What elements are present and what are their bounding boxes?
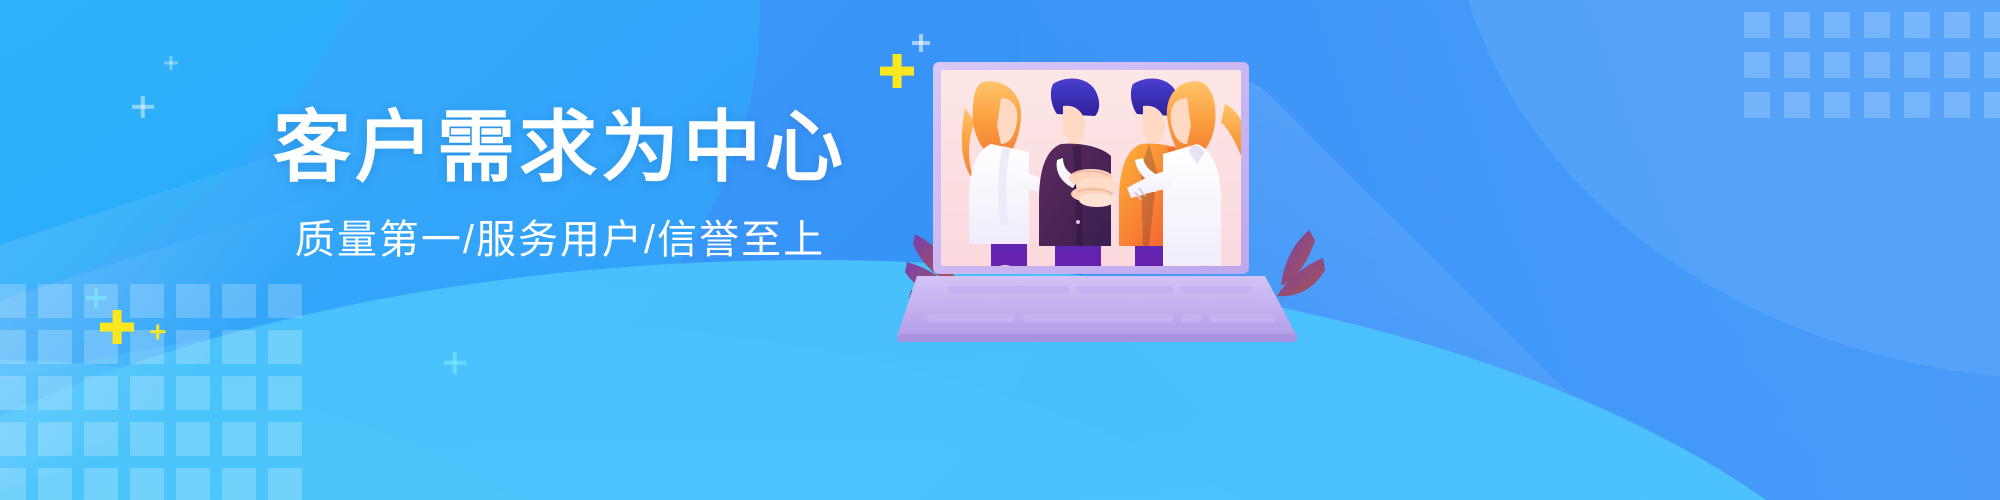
laptop-keyboard xyxy=(927,286,1275,322)
banner-headline: 客户需求为中心 xyxy=(250,108,870,186)
laptop-team-illustration xyxy=(905,48,1325,348)
promo-banner: 客户需求为中心 质量第一/服务用户/信誉至上 xyxy=(0,0,2000,500)
plus-yellow-small-bottom-icon xyxy=(150,324,165,339)
plus-white-tiny-upper-left-icon xyxy=(164,56,178,70)
laptop-front-edge xyxy=(897,334,1297,342)
background-wave-bottom-c xyxy=(0,360,740,500)
banner-subtitle: 质量第一/服务用户/信誉至上 xyxy=(250,220,870,260)
background-wave-right-secondary xyxy=(1450,0,2000,380)
leaf-cluster-right xyxy=(1277,230,1325,296)
plus-cyan-bottom-left-icon xyxy=(86,288,106,308)
plus-cyan-lower-center-icon xyxy=(444,352,466,374)
square-grid-top-right xyxy=(1744,0,2000,118)
banner-text-block: 客户需求为中心 质量第一/服务用户/信誉至上 xyxy=(250,108,870,260)
square-grid-bottom-left xyxy=(0,284,302,500)
plus-yellow-large-bottom-icon xyxy=(100,310,134,344)
plus-white-upper-left-icon xyxy=(132,96,154,118)
